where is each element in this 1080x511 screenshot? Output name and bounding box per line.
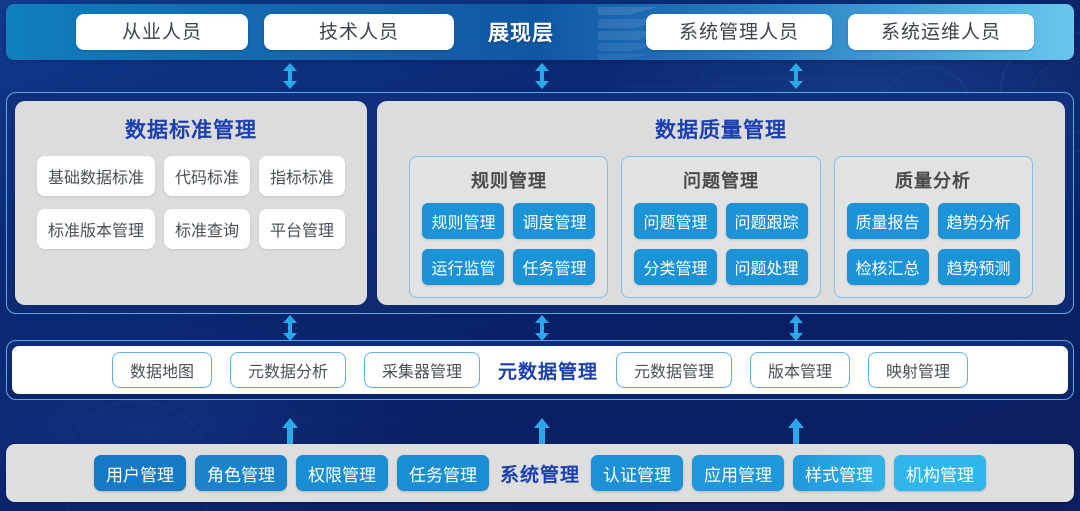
rule-management-title: 规则管理 <box>471 167 547 193</box>
double-arrow-vertical-icon <box>533 63 551 89</box>
data-quality-panel: 数据质量管理 规则管理 规则管理 调度管理 运行监管 任务管理 <box>377 101 1065 305</box>
arrow-up-icon <box>787 418 805 444</box>
btn-schedule-management[interactable]: 调度管理 <box>513 203 595 239</box>
metadata-layer-title: 元数据管理 <box>498 357 598 384</box>
metadata-layer-container: 数据地图 元数据分析 采集器管理 元数据管理 元数据管理 版本管理 映射管理 <box>6 340 1074 400</box>
system-management-title: 系统管理 <box>500 460 580 487</box>
button-row: 规则管理 调度管理 <box>422 203 595 239</box>
btn-style-management[interactable]: 样式管理 <box>793 455 885 491</box>
btn-auth-management[interactable]: 认证管理 <box>591 455 683 491</box>
btn-user-management[interactable]: 用户管理 <box>94 455 186 491</box>
double-arrow-vertical-icon <box>787 315 805 341</box>
button-row: 分类管理 问题处理 <box>634 249 807 285</box>
button-row: 运行监管 任务管理 <box>422 249 595 285</box>
role-chip-sysadmin[interactable]: 系统管理人员 <box>646 14 832 50</box>
btn-application-management[interactable]: 应用管理 <box>692 455 784 491</box>
pill-version-management[interactable]: 版本管理 <box>750 352 850 388</box>
pill-metadata-analysis[interactable]: 元数据分析 <box>230 352 346 388</box>
standards-row: 标准版本管理 标准查询 平台管理 <box>37 209 345 249</box>
btn-task-management[interactable]: 任务管理 <box>513 249 595 285</box>
btn-inspection-summary[interactable]: 检核汇总 <box>847 249 929 285</box>
double-arrow-vertical-icon <box>281 315 299 341</box>
chip-code-standard[interactable]: 代码标准 <box>164 156 250 196</box>
presentation-layer-bar: 从业人员 技术人员 展现层 系统管理人员 系统运维人员 <box>6 4 1074 60</box>
quality-analysis-card: 质量分析 质量报告 趋势分析 检核汇总 趋势预测 <box>834 156 1033 298</box>
btn-task-management-sys[interactable]: 任务管理 <box>397 455 489 491</box>
data-standards-panel: 数据标准管理 基础数据标准 代码标准 指标标准 标准版本管理 标准查询 平台管理 <box>15 101 367 305</box>
chip-standard-query[interactable]: 标准查询 <box>164 209 250 249</box>
double-arrow-vertical-icon <box>533 315 551 341</box>
double-arrow-vertical-icon <box>787 63 805 89</box>
btn-category-management[interactable]: 分类管理 <box>634 249 716 285</box>
button-row: 问题管理 问题跟踪 <box>634 203 807 239</box>
btn-issue-management[interactable]: 问题管理 <box>634 203 716 239</box>
system-management-bar: 用户管理 角色管理 权限管理 任务管理 系统管理 认证管理 应用管理 样式管理 … <box>6 444 1074 502</box>
arrow-up-icon <box>281 418 299 444</box>
issue-management-title: 问题管理 <box>683 167 759 193</box>
btn-trend-analysis[interactable]: 趋势分析 <box>938 203 1020 239</box>
management-layer-container: 数据标准管理 基础数据标准 代码标准 指标标准 标准版本管理 标准查询 平台管理… <box>6 92 1074 314</box>
metadata-bar: 数据地图 元数据分析 采集器管理 元数据管理 元数据管理 版本管理 映射管理 <box>12 346 1068 394</box>
button-row: 质量报告 趋势分析 <box>847 203 1020 239</box>
pill-collector-management[interactable]: 采集器管理 <box>364 352 480 388</box>
diagram-canvas: 从业人员 技术人员 展现层 系统管理人员 系统运维人员 数据标准管理 基础数据标… <box>0 0 1080 511</box>
chip-standard-version-mgmt[interactable]: 标准版本管理 <box>37 209 155 249</box>
rule-management-card: 规则管理 规则管理 调度管理 运行监管 任务管理 <box>409 156 608 298</box>
btn-quality-report[interactable]: 质量报告 <box>847 203 929 239</box>
btn-trend-forecast[interactable]: 趋势预测 <box>938 249 1020 285</box>
chip-basic-data-standard[interactable]: 基础数据标准 <box>37 156 155 196</box>
pill-data-map[interactable]: 数据地图 <box>112 352 212 388</box>
pill-mapping-management[interactable]: 映射管理 <box>868 352 968 388</box>
role-chip-technician[interactable]: 技术人员 <box>264 14 454 50</box>
btn-role-management[interactable]: 角色管理 <box>195 455 287 491</box>
issue-management-card: 问题管理 问题管理 问题跟踪 分类管理 问题处理 <box>621 156 820 298</box>
btn-runtime-monitoring[interactable]: 运行监管 <box>422 249 504 285</box>
chip-platform-mgmt[interactable]: 平台管理 <box>259 209 345 249</box>
btn-issue-processing[interactable]: 问题处理 <box>726 249 808 285</box>
role-chip-sysops[interactable]: 系统运维人员 <box>848 14 1034 50</box>
btn-rule-management[interactable]: 规则管理 <box>422 203 504 239</box>
role-chip-employee[interactable]: 从业人员 <box>76 14 248 50</box>
standards-row: 基础数据标准 代码标准 指标标准 <box>37 156 345 196</box>
btn-issue-tracking[interactable]: 问题跟踪 <box>726 203 808 239</box>
data-quality-title: 数据质量管理 <box>655 114 787 144</box>
chip-indicator-standard[interactable]: 指标标准 <box>259 156 345 196</box>
presentation-layer-title: 展现层 <box>488 17 554 47</box>
pill-metadata-management[interactable]: 元数据管理 <box>616 352 732 388</box>
data-standards-title: 数据标准管理 <box>125 114 257 144</box>
quality-analysis-title: 质量分析 <box>895 167 971 193</box>
btn-org-management[interactable]: 机构管理 <box>894 455 986 491</box>
button-row: 检核汇总 趋势预测 <box>847 249 1020 285</box>
btn-permission-management[interactable]: 权限管理 <box>296 455 388 491</box>
arrow-up-icon <box>533 418 551 444</box>
double-arrow-vertical-icon <box>281 63 299 89</box>
